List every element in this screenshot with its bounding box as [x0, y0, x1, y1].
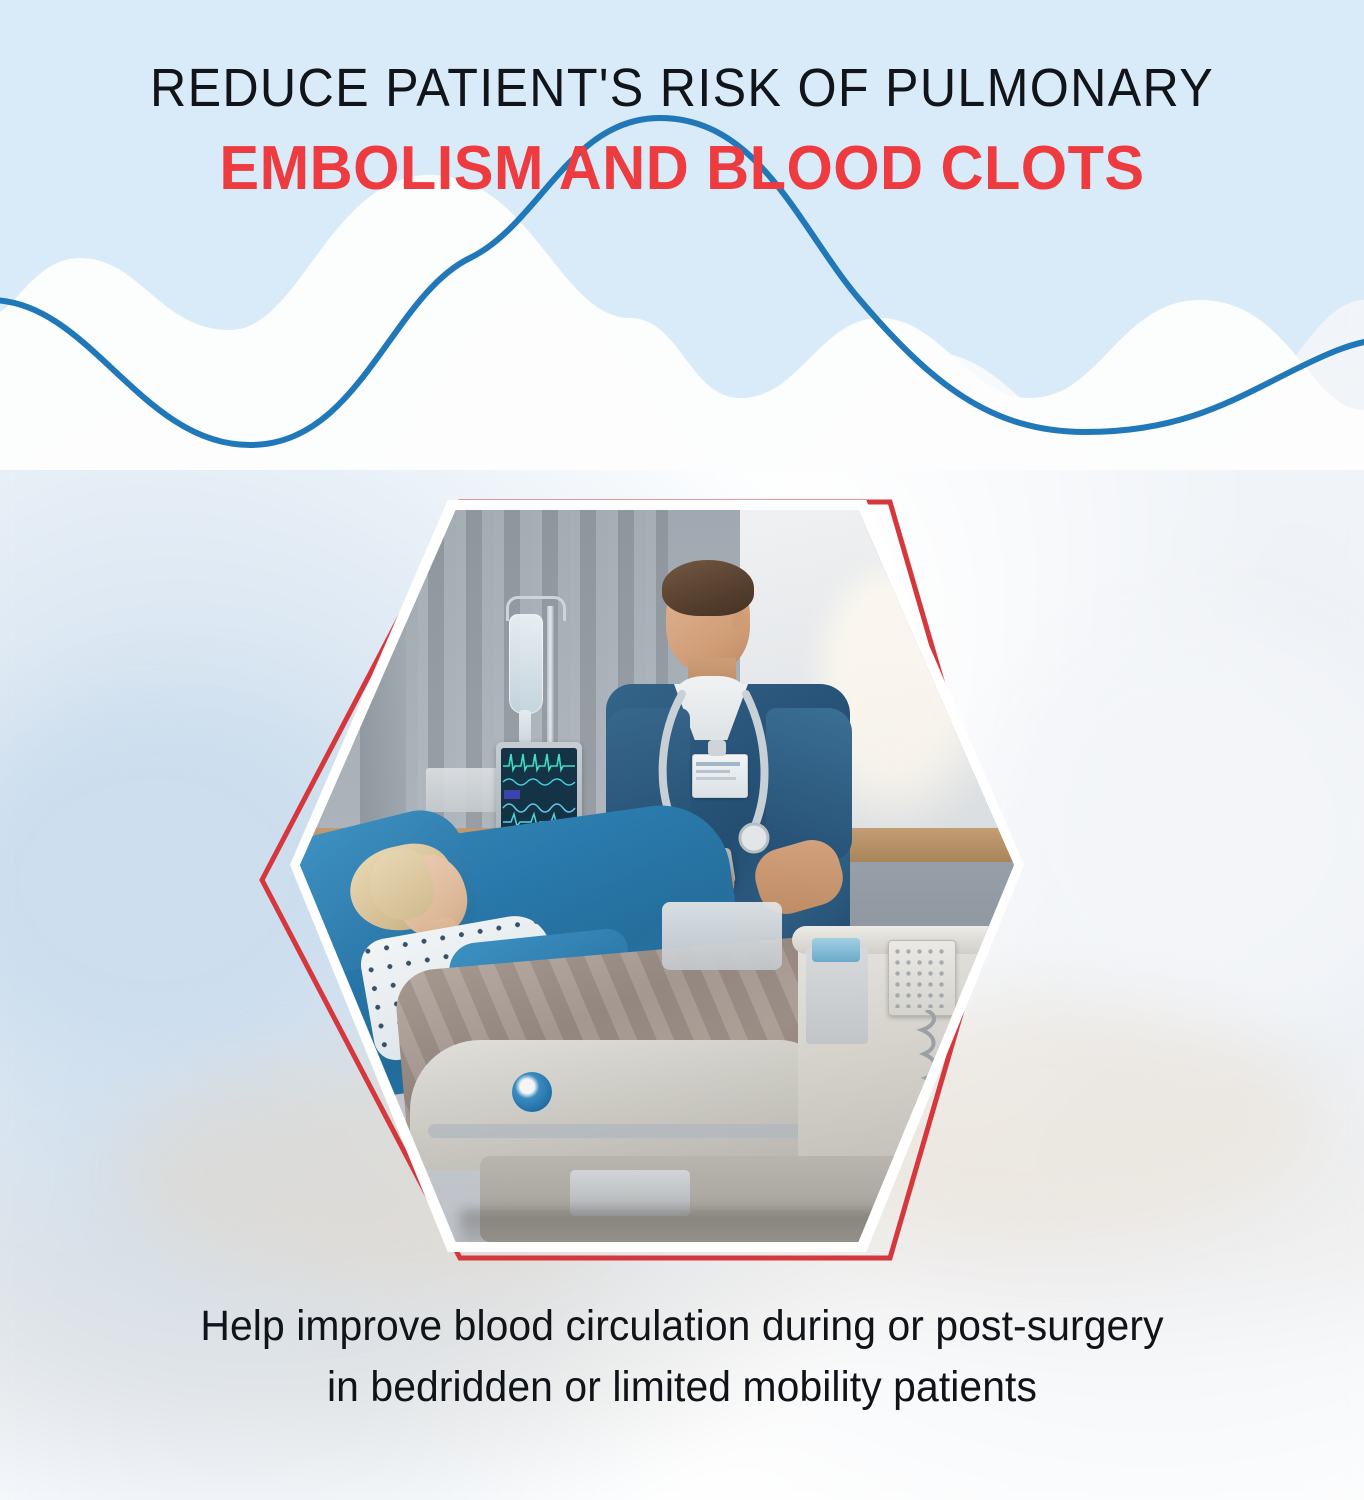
caption-block: Help improve blood circulation during or…: [0, 1296, 1364, 1418]
headline-line-1: REDUCE PATIENT'S RISK OF PULMONARY: [48, 60, 1317, 117]
caption-line-2: in bedridden or limited mobility patient…: [34, 1357, 1330, 1418]
headline-line-2: EMBOLISM AND BLOOD CLOTS: [27, 137, 1336, 201]
caption-line-1: Help improve blood circulation during or…: [34, 1296, 1330, 1357]
poster-canvas: REDUCE PATIENT'S RISK OF PULMONARY EMBOL…: [0, 0, 1364, 1500]
headline-block: REDUCE PATIENT'S RISK OF PULMONARY EMBOL…: [0, 0, 1364, 202]
hero-hexagon-block: [0, 480, 1364, 1280]
